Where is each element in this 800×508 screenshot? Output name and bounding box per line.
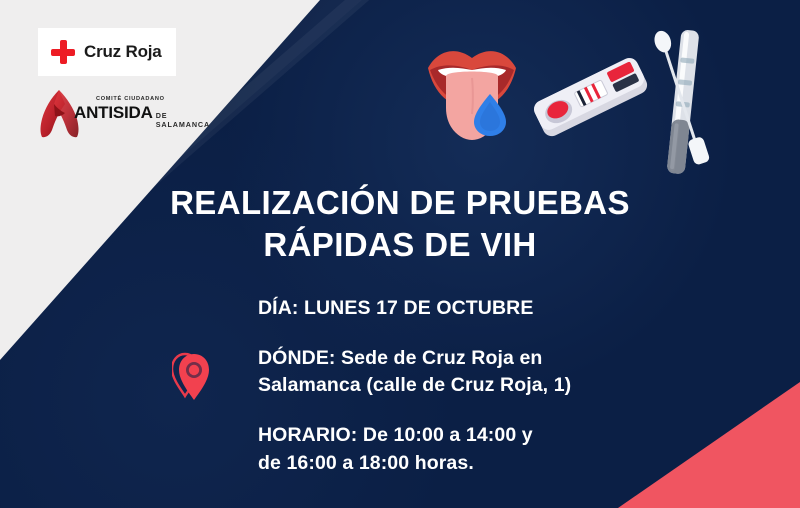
page-title: REALIZACIÓN DE PRUEBAS RÁPIDAS DE VIH xyxy=(0,182,800,266)
antisida-main-word: ANTISIDA xyxy=(74,103,153,123)
antisida-suffix: DE SALAMANCA xyxy=(156,111,210,129)
cruz-roja-logo: Cruz Roja xyxy=(38,28,176,76)
red-cross-icon xyxy=(51,40,75,64)
event-details: DÍA: LUNES 17 DE OCTUBRE DÓNDE: Sede de … xyxy=(258,295,678,477)
antisida-logo: COMITÉ CIUDADANO ANTISIDA DE SALAMANCA xyxy=(30,86,190,142)
page-title-line-1: REALIZACIÓN DE PRUEBAS xyxy=(0,182,800,224)
detail-hours-line-2: de 16:00 a 18:00 horas. xyxy=(258,450,678,478)
cruz-roja-logo-label: Cruz Roja xyxy=(84,42,162,62)
detail-hours: HORARIO: De 10:00 a 14:00 y de 16:00 a 1… xyxy=(258,422,678,477)
detail-date-line: DÍA: LUNES 17 DE OCTUBRE xyxy=(258,295,678,323)
detail-hours-line-1: HORARIO: De 10:00 a 14:00 y xyxy=(258,422,678,450)
antisida-top-line: COMITÉ CIUDADANO xyxy=(96,96,194,102)
poster-canvas: Cruz Roja COMITÉ CIUDADANO ANTISIDA DE S… xyxy=(0,0,800,508)
page-title-line-2: RÁPIDAS DE VIH xyxy=(0,224,800,266)
location-pin-icon xyxy=(172,352,216,408)
detail-date: DÍA: LUNES 17 DE OCTUBRE xyxy=(258,295,678,323)
antisida-logo-text: COMITÉ CIUDADANO ANTISIDA DE SALAMANCA xyxy=(74,96,194,129)
swab-collection-tube-icon xyxy=(648,24,720,180)
rapid-test-cassette-icon xyxy=(528,44,654,152)
detail-location-line-1: DÓNDE: Sede de Cruz Roja en xyxy=(258,345,678,373)
detail-location-line-2: Salamanca (calle de Cruz Roja, 1) xyxy=(258,372,678,400)
mouth-with-tongue-and-drop-icon xyxy=(418,36,526,154)
detail-location: DÓNDE: Sede de Cruz Roja en Salamanca (c… xyxy=(258,345,678,400)
